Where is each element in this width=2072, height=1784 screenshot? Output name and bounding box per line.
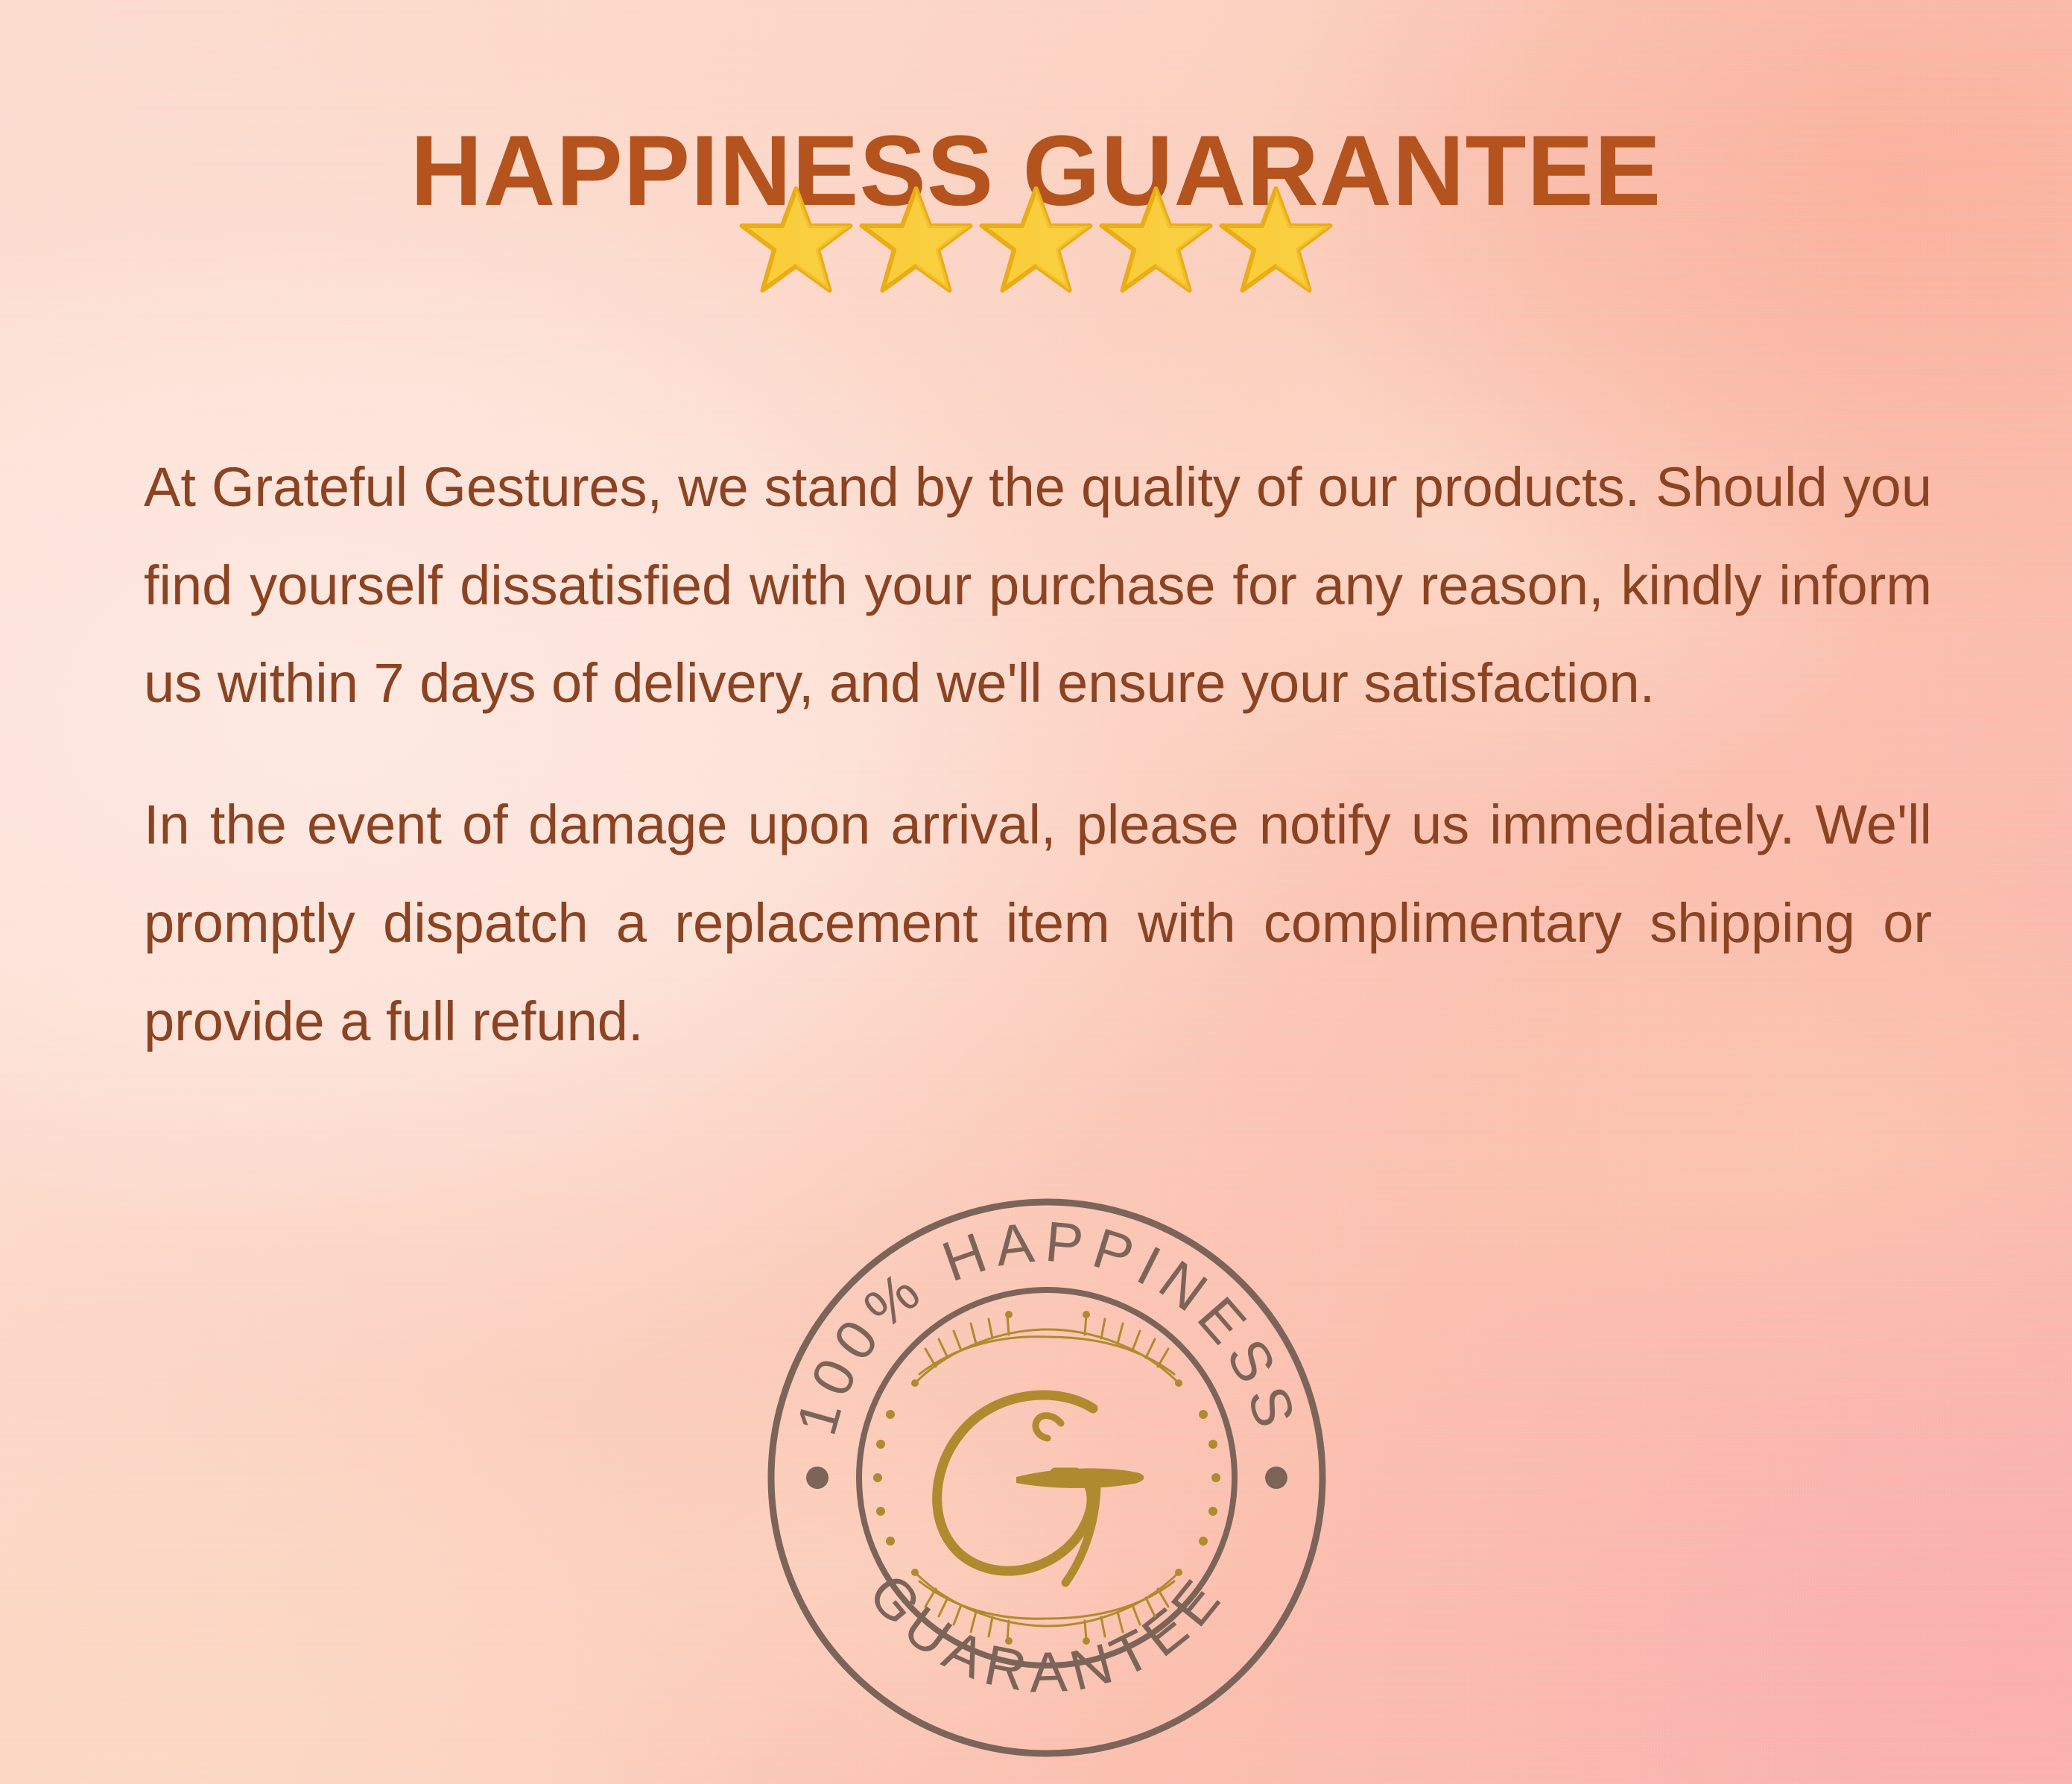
star-icon: [738, 185, 854, 297]
star-icon: [858, 185, 974, 297]
seal-bottom-text: GUARANTEE: [856, 1562, 1237, 1704]
star-icon: [1218, 185, 1334, 297]
star-icon: [1098, 185, 1214, 297]
seal-dot-right: [1265, 1467, 1287, 1489]
laurel-top-icon: [911, 1311, 1182, 1387]
guarantee-paragraph-1: At Grateful Gestures, we stand by the qu…: [144, 438, 1932, 733]
star-icon: [978, 185, 1094, 297]
guarantee-body: At Grateful Gestures, we stand by the qu…: [144, 438, 1932, 1070]
seal-dot-left: [806, 1467, 829, 1489]
brand-monogram-g: [937, 1395, 1144, 1583]
star-rating: [0, 185, 2072, 297]
guarantee-paragraph-2: In the event of damage upon arrival, ple…: [144, 776, 1932, 1070]
happiness-guarantee-seal: 100% HAPPINESS GUARANTEE: [760, 1191, 1334, 1765]
monogram-label: G: [1047, 1607, 1048, 1609]
happiness-guarantee-graphic: HAPPINESS GUARANTEE: [0, 0, 2072, 1784]
seal-top-text: 100% HAPPINESS: [785, 1210, 1309, 1442]
